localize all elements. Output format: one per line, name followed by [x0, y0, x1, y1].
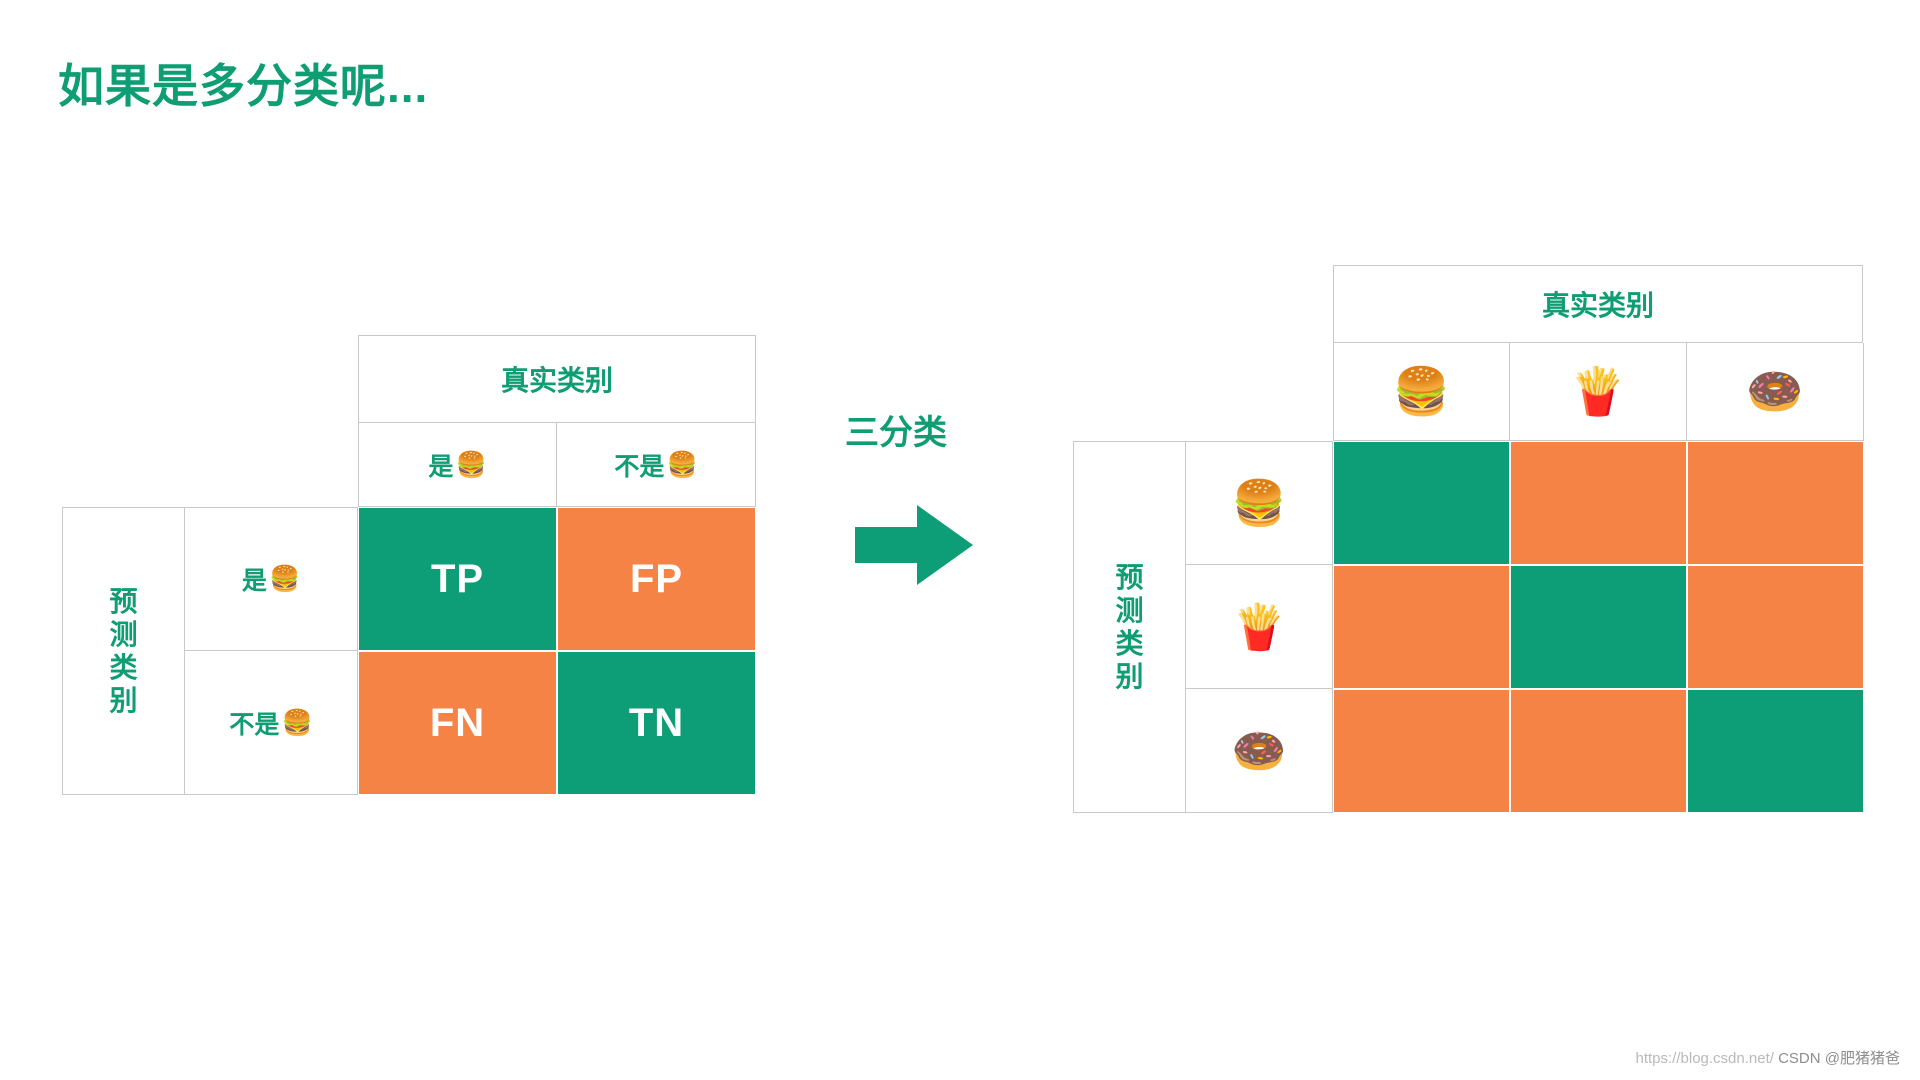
fries-icon: 🍟 — [1232, 601, 1287, 653]
multiclass-pred-class-header: 预 测 类 别 — [1073, 441, 1186, 813]
multiclass-pred-row-header-1: 🍟 — [1186, 565, 1333, 689]
burger-icon: 🍔 — [1232, 477, 1287, 529]
binary-cell-tp-label: TP — [431, 557, 484, 602]
multiclass-cell-0-2 — [1687, 441, 1864, 565]
binary-true-col-label-1: 不是 — [614, 447, 664, 483]
watermark: https://blog.csdn.net/ CSDN @肥猪猪爸 — [1636, 1047, 1901, 1068]
multiclass-cell-1-1 — [1510, 565, 1687, 689]
multiclass-cell-2-0 — [1333, 689, 1510, 813]
binary-cell-fn-label: FN — [430, 701, 485, 746]
binary-true-class-header-label: 真实类别 — [501, 359, 613, 399]
binary-pred-row-header-0: 是 🍔 — [185, 507, 358, 651]
binary-cell-fn: FN — [358, 651, 557, 795]
binary-cell-tp: TP — [358, 507, 557, 651]
binary-pred-header-char-3: 别 — [109, 684, 137, 717]
binary-pred-row-label-0: 是 — [242, 561, 267, 597]
multiclass-pred-header-char-2: 类 — [1115, 627, 1143, 660]
multiclass-cell-2-1 — [1510, 689, 1687, 813]
burger-icon: 🍔 — [455, 450, 486, 480]
multiclass-cell-0-1 — [1510, 441, 1687, 565]
binary-pred-header-char-0: 预 — [109, 585, 137, 618]
multiclass-cell-1-2 — [1687, 565, 1864, 689]
burger-icon: 🍔 — [281, 708, 312, 738]
binary-true-col-header-0: 是 🍔 — [358, 423, 557, 507]
burger-icon: 🍔 — [269, 564, 300, 594]
multiclass-true-class-header-label: 真实类别 — [1542, 284, 1654, 324]
multiclass-cell-1-0 — [1333, 565, 1510, 689]
watermark-author: CSDN @肥猪猪爸 — [1778, 1050, 1900, 1067]
donut-icon: 🍩 — [1746, 364, 1803, 419]
binary-cell-fp-label: FP — [630, 557, 683, 602]
multiclass-pred-header-char-0: 预 — [1115, 561, 1143, 594]
right-arrow-icon — [855, 505, 973, 585]
multiclass-pred-header-char-1: 测 — [1115, 594, 1143, 627]
multiclass-confusion-matrix: 真实类别 🍔 🍟 🍩 预 测 类 别 🍔 🍟 🍩 — [1073, 265, 1863, 815]
watermark-url: https://blog.csdn.net/ — [1636, 1050, 1774, 1067]
binary-cell-tn: TN — [557, 651, 756, 795]
donut-icon: 🍩 — [1232, 725, 1287, 777]
multiclass-cell-0-0 — [1333, 441, 1510, 565]
multiclass-pred-header-char-3: 别 — [1115, 660, 1143, 693]
binary-cell-tn-label: TN — [629, 701, 684, 746]
burger-icon: 🍔 — [666, 450, 697, 480]
fries-icon: 🍟 — [1569, 364, 1626, 419]
binary-pred-row-label-1: 不是 — [229, 705, 279, 741]
binary-true-class-header: 真实类别 — [358, 335, 756, 423]
binary-pred-class-header: 预 测 类 别 — [62, 507, 185, 795]
multiclass-pred-row-header-0: 🍔 — [1186, 441, 1333, 565]
binary-pred-header-char-1: 测 — [109, 618, 137, 651]
multiclass-true-col-header-0: 🍔 — [1333, 343, 1510, 441]
page-title: 如果是多分类呢... — [58, 50, 428, 116]
binary-pred-header-char-2: 类 — [109, 651, 137, 684]
multiclass-true-class-header: 真实类别 — [1333, 265, 1863, 343]
binary-pred-row-header-1: 不是 🍔 — [185, 651, 358, 795]
multiclass-true-col-header-2: 🍩 — [1687, 343, 1864, 441]
multiclass-true-col-header-1: 🍟 — [1510, 343, 1687, 441]
binary-true-col-label-0: 是 — [428, 447, 453, 483]
binary-cell-fp: FP — [557, 507, 756, 651]
multiclass-pred-row-header-2: 🍩 — [1186, 689, 1333, 813]
multiclass-cell-2-2 — [1687, 689, 1864, 813]
binary-true-col-header-1: 不是 🍔 — [557, 423, 756, 507]
burger-icon: 🍔 — [1393, 364, 1450, 419]
binary-confusion-matrix: 真实类别 是 🍔 不是 🍔 预 测 类 别 是 🍔 不是 🍔 TP FP FN … — [62, 335, 756, 795]
transform-label: 三分类 — [845, 405, 947, 454]
